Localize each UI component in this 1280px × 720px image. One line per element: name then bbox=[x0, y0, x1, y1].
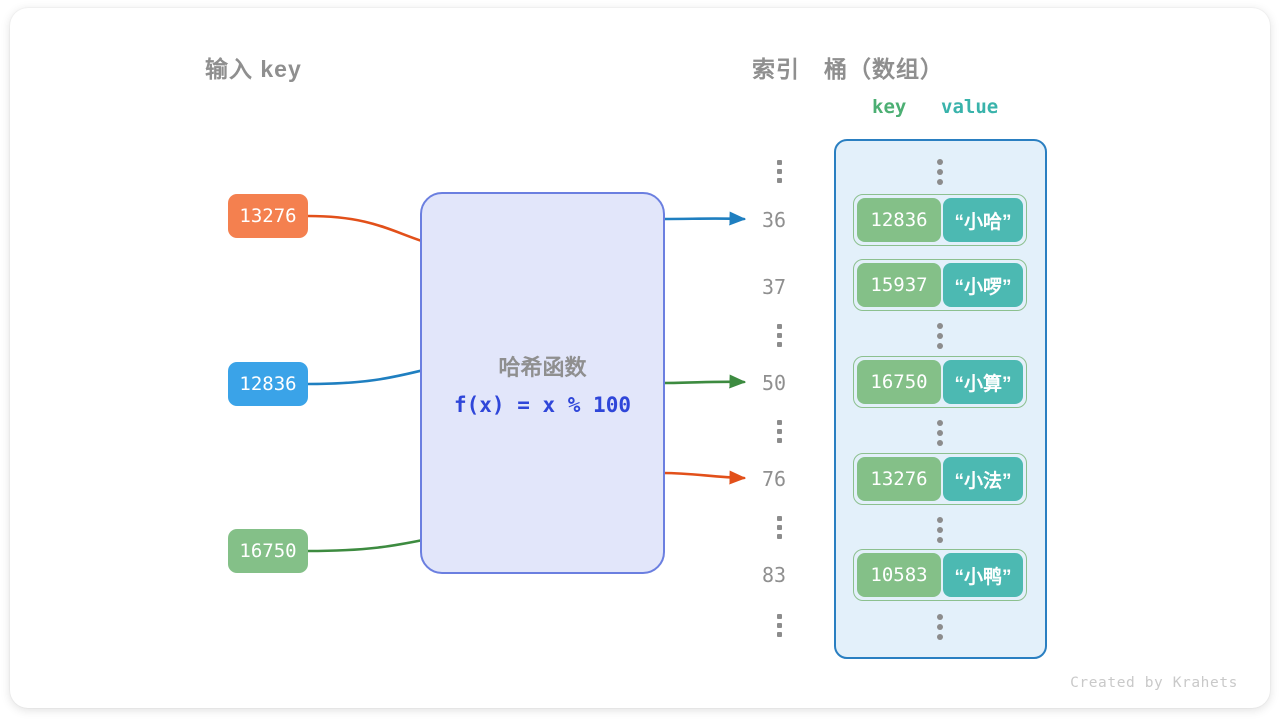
entry-value: “小啰” bbox=[943, 263, 1023, 307]
bucket-ellipsis bbox=[933, 420, 947, 446]
index-ellipsis bbox=[772, 516, 786, 539]
heading-input-key: 输入 key bbox=[205, 50, 302, 84]
hash-function-formula: f(x) = x % 100 bbox=[420, 393, 665, 417]
index-83: 83 bbox=[762, 563, 808, 587]
input-key-13276[interactable]: 13276 bbox=[228, 194, 308, 238]
bucket-ellipsis bbox=[933, 323, 947, 349]
index-37: 37 bbox=[762, 275, 808, 299]
entry-key: 13276 bbox=[857, 457, 941, 501]
hash-function-box bbox=[420, 192, 665, 574]
bucket-entry-15937[interactable]: 15937 “小啰” bbox=[853, 259, 1027, 311]
heading-value-column: value bbox=[941, 96, 998, 118]
diagram-canvas: 输入 key 索引 桶（数组） key value 13276 12836 16… bbox=[0, 0, 1280, 720]
entry-value: “小哈” bbox=[943, 198, 1023, 242]
bucket-ellipsis bbox=[933, 614, 947, 640]
entry-key: 12836 bbox=[857, 198, 941, 242]
index-ellipsis bbox=[772, 614, 786, 637]
entry-value: “小鸭” bbox=[943, 553, 1023, 597]
input-key-12836[interactable]: 12836 bbox=[228, 362, 308, 406]
hash-function-title: 哈希函数 bbox=[420, 350, 665, 382]
entry-key: 10583 bbox=[857, 553, 941, 597]
entry-key: 16750 bbox=[857, 360, 941, 404]
entry-value: “小法” bbox=[943, 457, 1023, 501]
bucket-ellipsis bbox=[933, 517, 947, 543]
bucket-ellipsis bbox=[933, 159, 947, 185]
entry-value: “小算” bbox=[943, 360, 1023, 404]
bucket-entry-13276[interactable]: 13276 “小法” bbox=[853, 453, 1027, 505]
index-ellipsis bbox=[772, 160, 786, 183]
bucket-entry-12836[interactable]: 12836 “小哈” bbox=[853, 194, 1027, 246]
heading-index: 索引 bbox=[752, 50, 800, 84]
index-50: 50 bbox=[762, 371, 808, 395]
bucket-entry-10583[interactable]: 10583 “小鸭” bbox=[853, 549, 1027, 601]
entry-key: 15937 bbox=[857, 263, 941, 307]
heading-bucket: 桶（数组） bbox=[824, 50, 944, 84]
index-ellipsis bbox=[772, 324, 786, 347]
credit-label: Created by Krahets bbox=[1070, 675, 1238, 691]
input-key-16750[interactable]: 16750 bbox=[228, 529, 308, 573]
heading-key-column: key bbox=[872, 96, 906, 118]
index-ellipsis bbox=[772, 420, 786, 443]
index-76: 76 bbox=[762, 467, 808, 491]
bucket-entry-16750[interactable]: 16750 “小算” bbox=[853, 356, 1027, 408]
index-36: 36 bbox=[762, 208, 808, 232]
